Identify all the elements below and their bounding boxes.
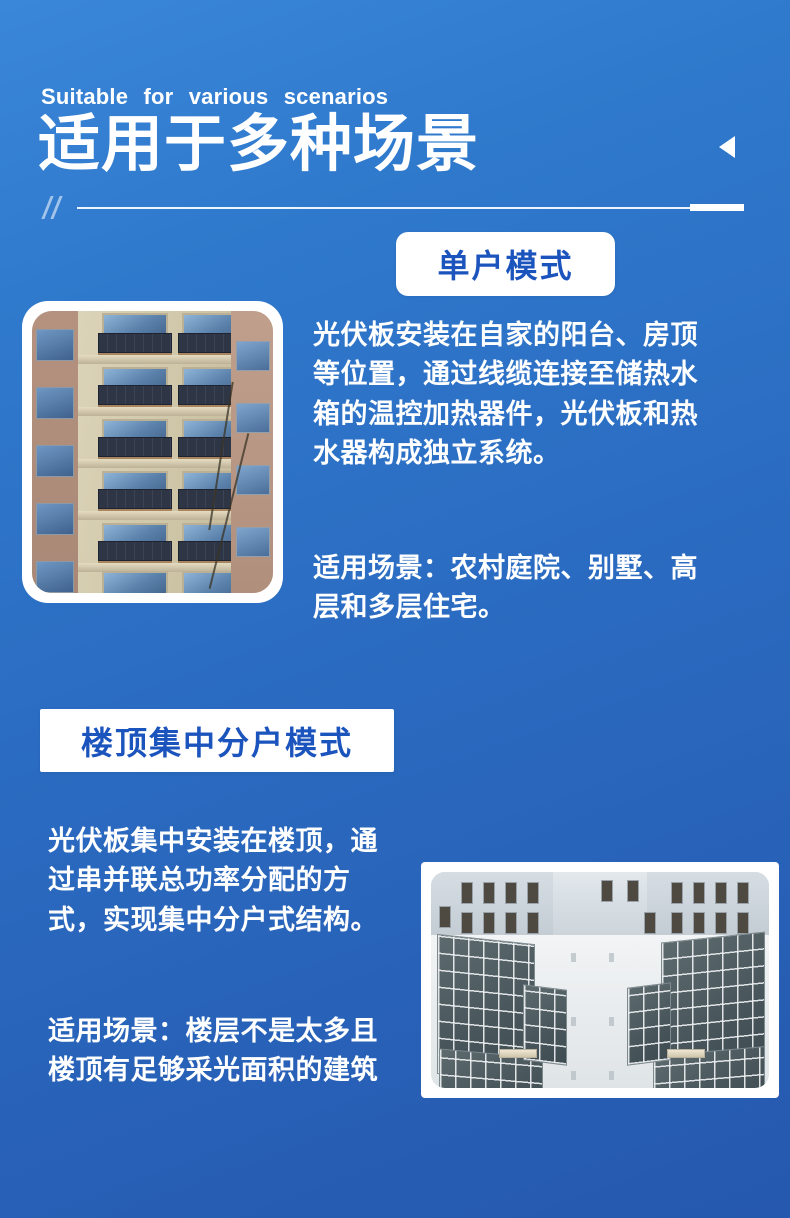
section-1-paragraph-1: 光伏板安装在自家的阳台、房顶等位置，通过线缆连接至储热水箱的温控加热器件，光伏板… — [313, 316, 713, 474]
triangle-left-icon — [719, 136, 735, 158]
page-title: 适用于多种场景 — [38, 108, 479, 181]
double-slash-icon — [42, 196, 70, 220]
page-header: Suitable for various scenarios 适用于多种场景 — [0, 0, 790, 225]
section-2-paragraph-2: 适用场景：楼层不是太多且楼顶有足够采光面积的建筑 — [48, 1012, 388, 1091]
badge-single-household-mode: 单户模式 — [396, 232, 615, 296]
photo-rooftop-solar-array — [421, 862, 779, 1098]
section-2-paragraph-1: 光伏板集中安装在楼顶，通过串并联总功率分配的方式，实现集中分户式结构。 — [48, 822, 388, 940]
header-divider-thick — [690, 204, 744, 211]
photo-residential-building-balcony-solar — [22, 301, 283, 603]
header-eyebrow-english: Suitable for various scenarios — [41, 84, 388, 110]
badge-rooftop-distributed-mode: 楼顶集中分户模式 — [40, 709, 394, 772]
header-divider-thin — [77, 207, 744, 209]
section-1-paragraph-2: 适用场景：农村庭院、别墅、高层和多层住宅。 — [313, 549, 713, 628]
promo-page: Suitable for various scenarios 适用于多种场景 单… — [0, 0, 790, 1218]
